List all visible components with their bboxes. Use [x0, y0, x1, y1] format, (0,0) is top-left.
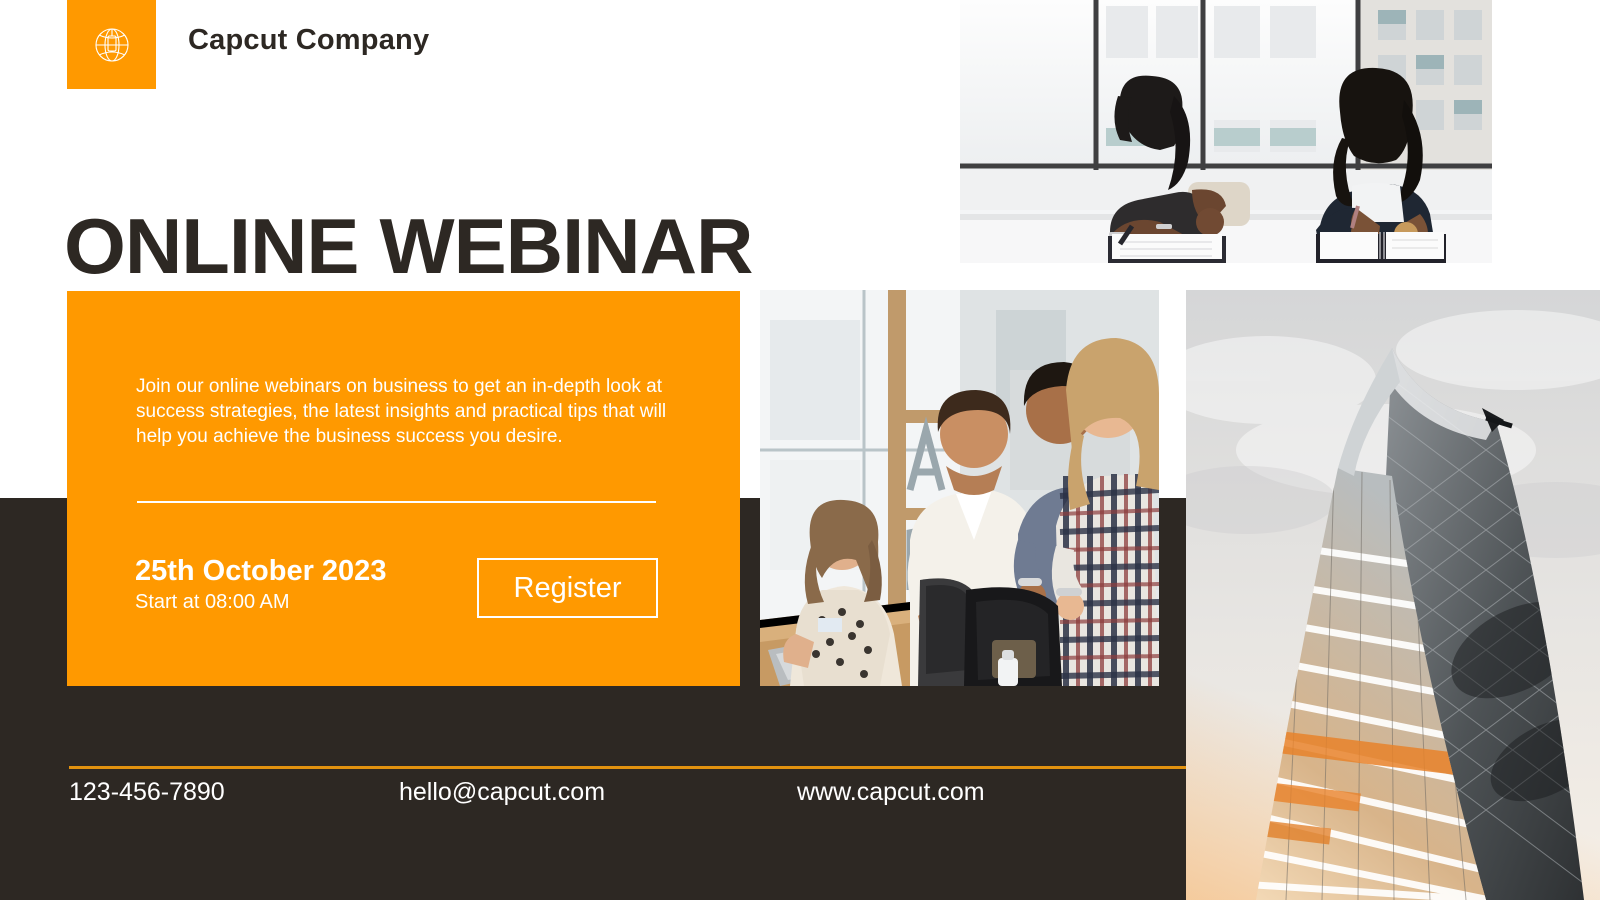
two-women-meeting-photo	[960, 0, 1492, 263]
contact-website[interactable]: www.capcut.com	[797, 778, 985, 807]
footer-contacts: 123-456-7890 hello@capcut.com www.capcut…	[69, 778, 1186, 818]
brand-logo-box	[67, 0, 156, 89]
contact-email[interactable]: hello@capcut.com	[399, 778, 605, 807]
webinar-description: Join our online webinars on business to …	[136, 374, 676, 449]
page-title: ONLINE WEBINAR	[64, 204, 752, 288]
event-time: Start at 08:00 AM	[135, 591, 290, 614]
brand-name: Capcut Company	[188, 24, 429, 57]
event-date: 25th October 2023	[135, 555, 386, 588]
team-collaboration-photo	[760, 290, 1159, 686]
globe-icon	[89, 22, 135, 68]
footer-divider	[69, 766, 1186, 769]
webinar-poster: Capcut Company ONLINE WEBINAR Join our o…	[0, 0, 1600, 900]
webinar-info-card: Join our online webinars on business to …	[67, 291, 740, 686]
contact-phone[interactable]: 123-456-7890	[69, 778, 225, 807]
card-divider	[137, 501, 656, 503]
register-button[interactable]: Register	[477, 558, 658, 618]
skyscraper-photo	[1186, 290, 1600, 900]
